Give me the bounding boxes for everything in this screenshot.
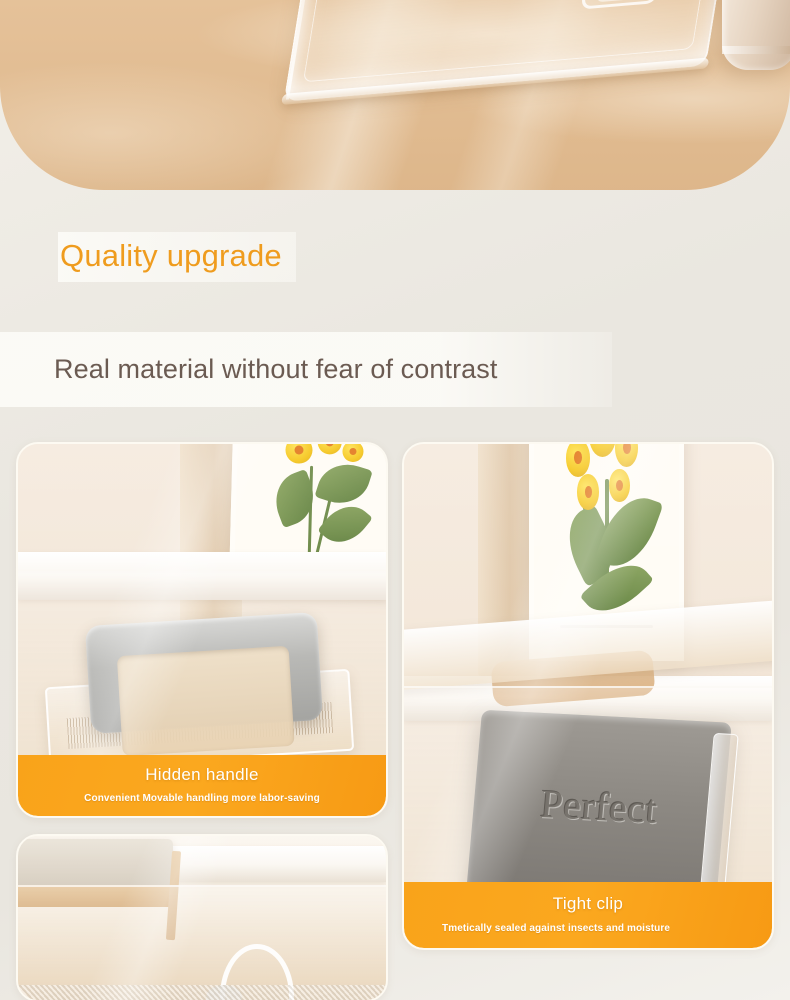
caption-title: Tight clip (404, 893, 772, 916)
feature-card-grid: Hidden handle Convenient Movable handlin… (16, 442, 774, 1000)
bin-front-glass (18, 885, 386, 1000)
page-subheadline: Real material without fear of contrast (0, 332, 612, 407)
appliance-edge (722, 0, 790, 70)
card-caption-hidden-handle: Hidden handle Convenient Movable handlin… (18, 755, 386, 816)
page-headline: Quality upgrade (58, 232, 296, 282)
hero-image (0, 0, 790, 190)
grey-handle (85, 612, 323, 734)
caption-subtitle: Tmetically sealed against insects and mo… (404, 916, 772, 935)
card-photo-tight-clip: Perfect (404, 444, 772, 948)
feature-card-tight-clip[interactable]: Perfect Tight clip Tmetically sealed aga… (402, 442, 774, 950)
caption-title: Hidden handle (18, 764, 386, 787)
carpet-strip (18, 985, 386, 1000)
card-caption-tight-clip: Tight clip Tmetically sealed against ins… (404, 882, 772, 948)
embossed-logo-text: Perfect (539, 780, 660, 833)
grey-clip: Perfect (466, 710, 732, 904)
feature-card-under-furniture[interactable] (16, 834, 388, 1000)
hero-photo (0, 0, 790, 190)
art-bloom (577, 474, 599, 509)
art-bloom (609, 469, 629, 502)
headline-wrapper: Quality upgrade (0, 232, 790, 282)
appliance-band (722, 46, 790, 54)
feature-card-hidden-handle[interactable]: Hidden handle Convenient Movable handlin… (16, 442, 388, 818)
sofa-edge (18, 839, 173, 888)
product-feature-page: Quality upgrade Real material without fe… (0, 0, 790, 1000)
card-photo-under-furniture (18, 836, 386, 1000)
caption-subtitle: Convenient Movable handling more labor-s… (18, 787, 386, 805)
handle-cutout (117, 646, 294, 756)
